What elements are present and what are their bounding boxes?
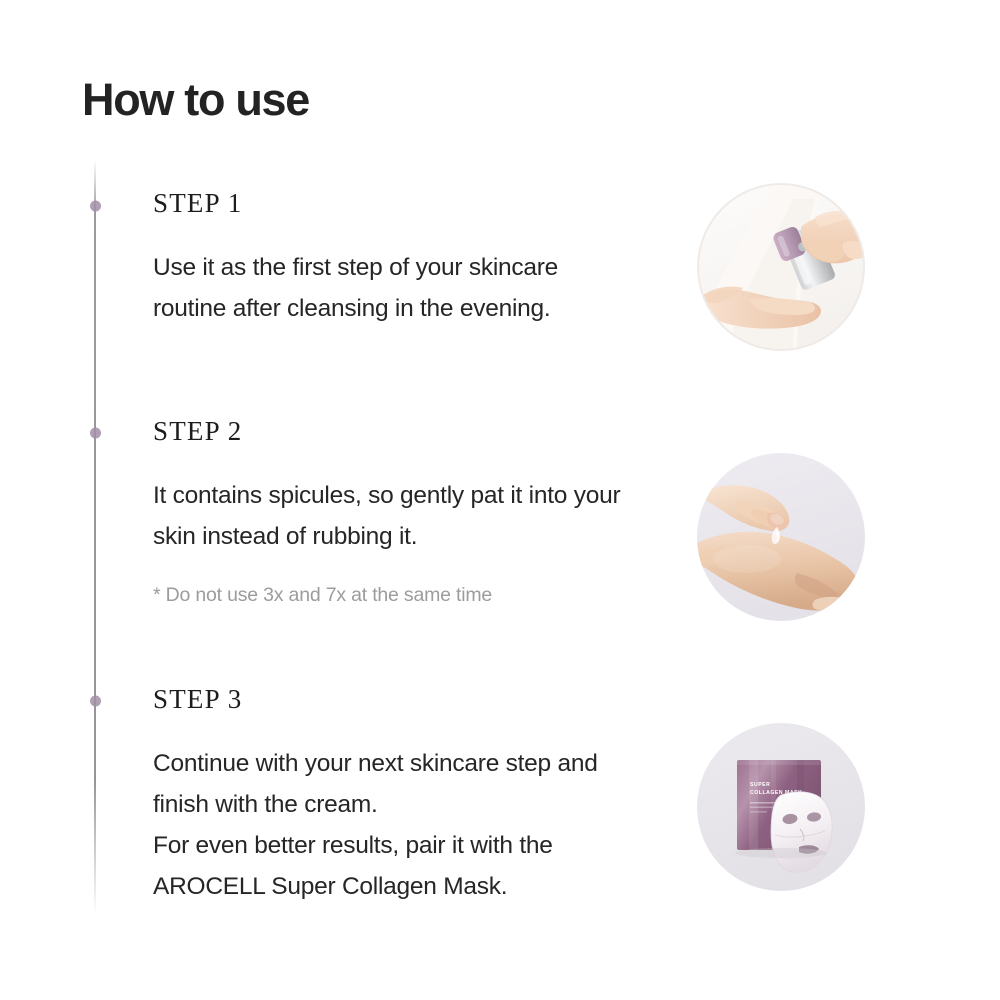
step-body-2: It contains spicules, so gently pat it i… <box>153 475 623 557</box>
hand-patting-serum-illustration <box>697 453 865 621</box>
step-block-1: STEP 1 Use it as the first step of your … <box>153 190 623 329</box>
super-collagen-mask-package-illustration: SUPER COLLAGEN MASK <box>697 723 865 891</box>
step-label-1: STEP 1 <box>153 190 623 217</box>
timeline-line <box>94 160 96 915</box>
step-3-photo: SUPER COLLAGEN MASK <box>697 723 865 891</box>
step-block-3: STEP 3 Continue with your next skincare … <box>153 686 623 908</box>
page-title: How to use <box>82 74 309 126</box>
step-note-2: * Do not use 3x and 7x at the same time <box>153 581 623 610</box>
step-label-3: STEP 3 <box>153 686 623 713</box>
step-1-photo <box>697 183 865 351</box>
timeline-dot-step-3 <box>90 696 101 707</box>
step-block-2: STEP 2 It contains spicules, so gently p… <box>153 418 623 611</box>
package-line-1: SUPER <box>750 782 770 788</box>
hand-pumping-serum-bottle-illustration <box>697 183 865 351</box>
step-label-2: STEP 2 <box>153 418 623 445</box>
step-body-1: Use it as the first step of your skincar… <box>153 247 623 329</box>
timeline-dot-step-2 <box>90 428 101 439</box>
step-2-photo <box>697 453 865 621</box>
timeline-dot-step-1 <box>90 201 101 212</box>
step-body-3: Continue with your next skincare step an… <box>153 743 623 908</box>
how-to-use-graphic: How to use STEP 1 Use it as the first st… <box>0 0 1000 1000</box>
